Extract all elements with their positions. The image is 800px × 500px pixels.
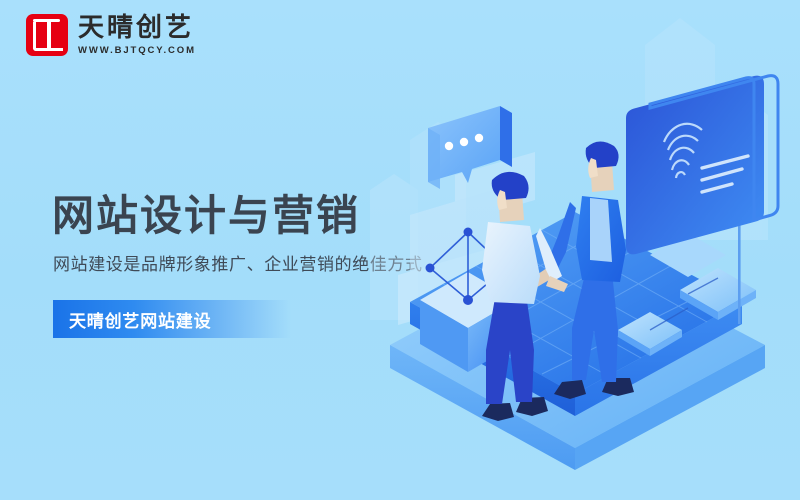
hero-banner: 天晴创艺 WWW.BJTQCY.COM 网站设计与营销 网站建设是品牌形象推广、… — [0, 0, 800, 500]
logo-company-name: 天晴创艺 — [78, 14, 196, 41]
page-title: 网站设计与营销 — [52, 182, 360, 243]
hero-illustration — [350, 0, 800, 500]
logo-mark-icon — [26, 14, 68, 56]
cta-button-label: 天晴创艺网站建设 — [53, 307, 211, 332]
cta-button[interactable]: 天晴创艺网站建设 — [53, 300, 291, 338]
site-logo[interactable]: 天晴创艺 WWW.BJTQCY.COM — [26, 14, 196, 56]
logo-mark-bar — [33, 19, 60, 22]
logo-text-group: 天晴创艺 WWW.BJTQCY.COM — [78, 14, 196, 55]
logo-website-url: WWW.BJTQCY.COM — [78, 45, 196, 56]
